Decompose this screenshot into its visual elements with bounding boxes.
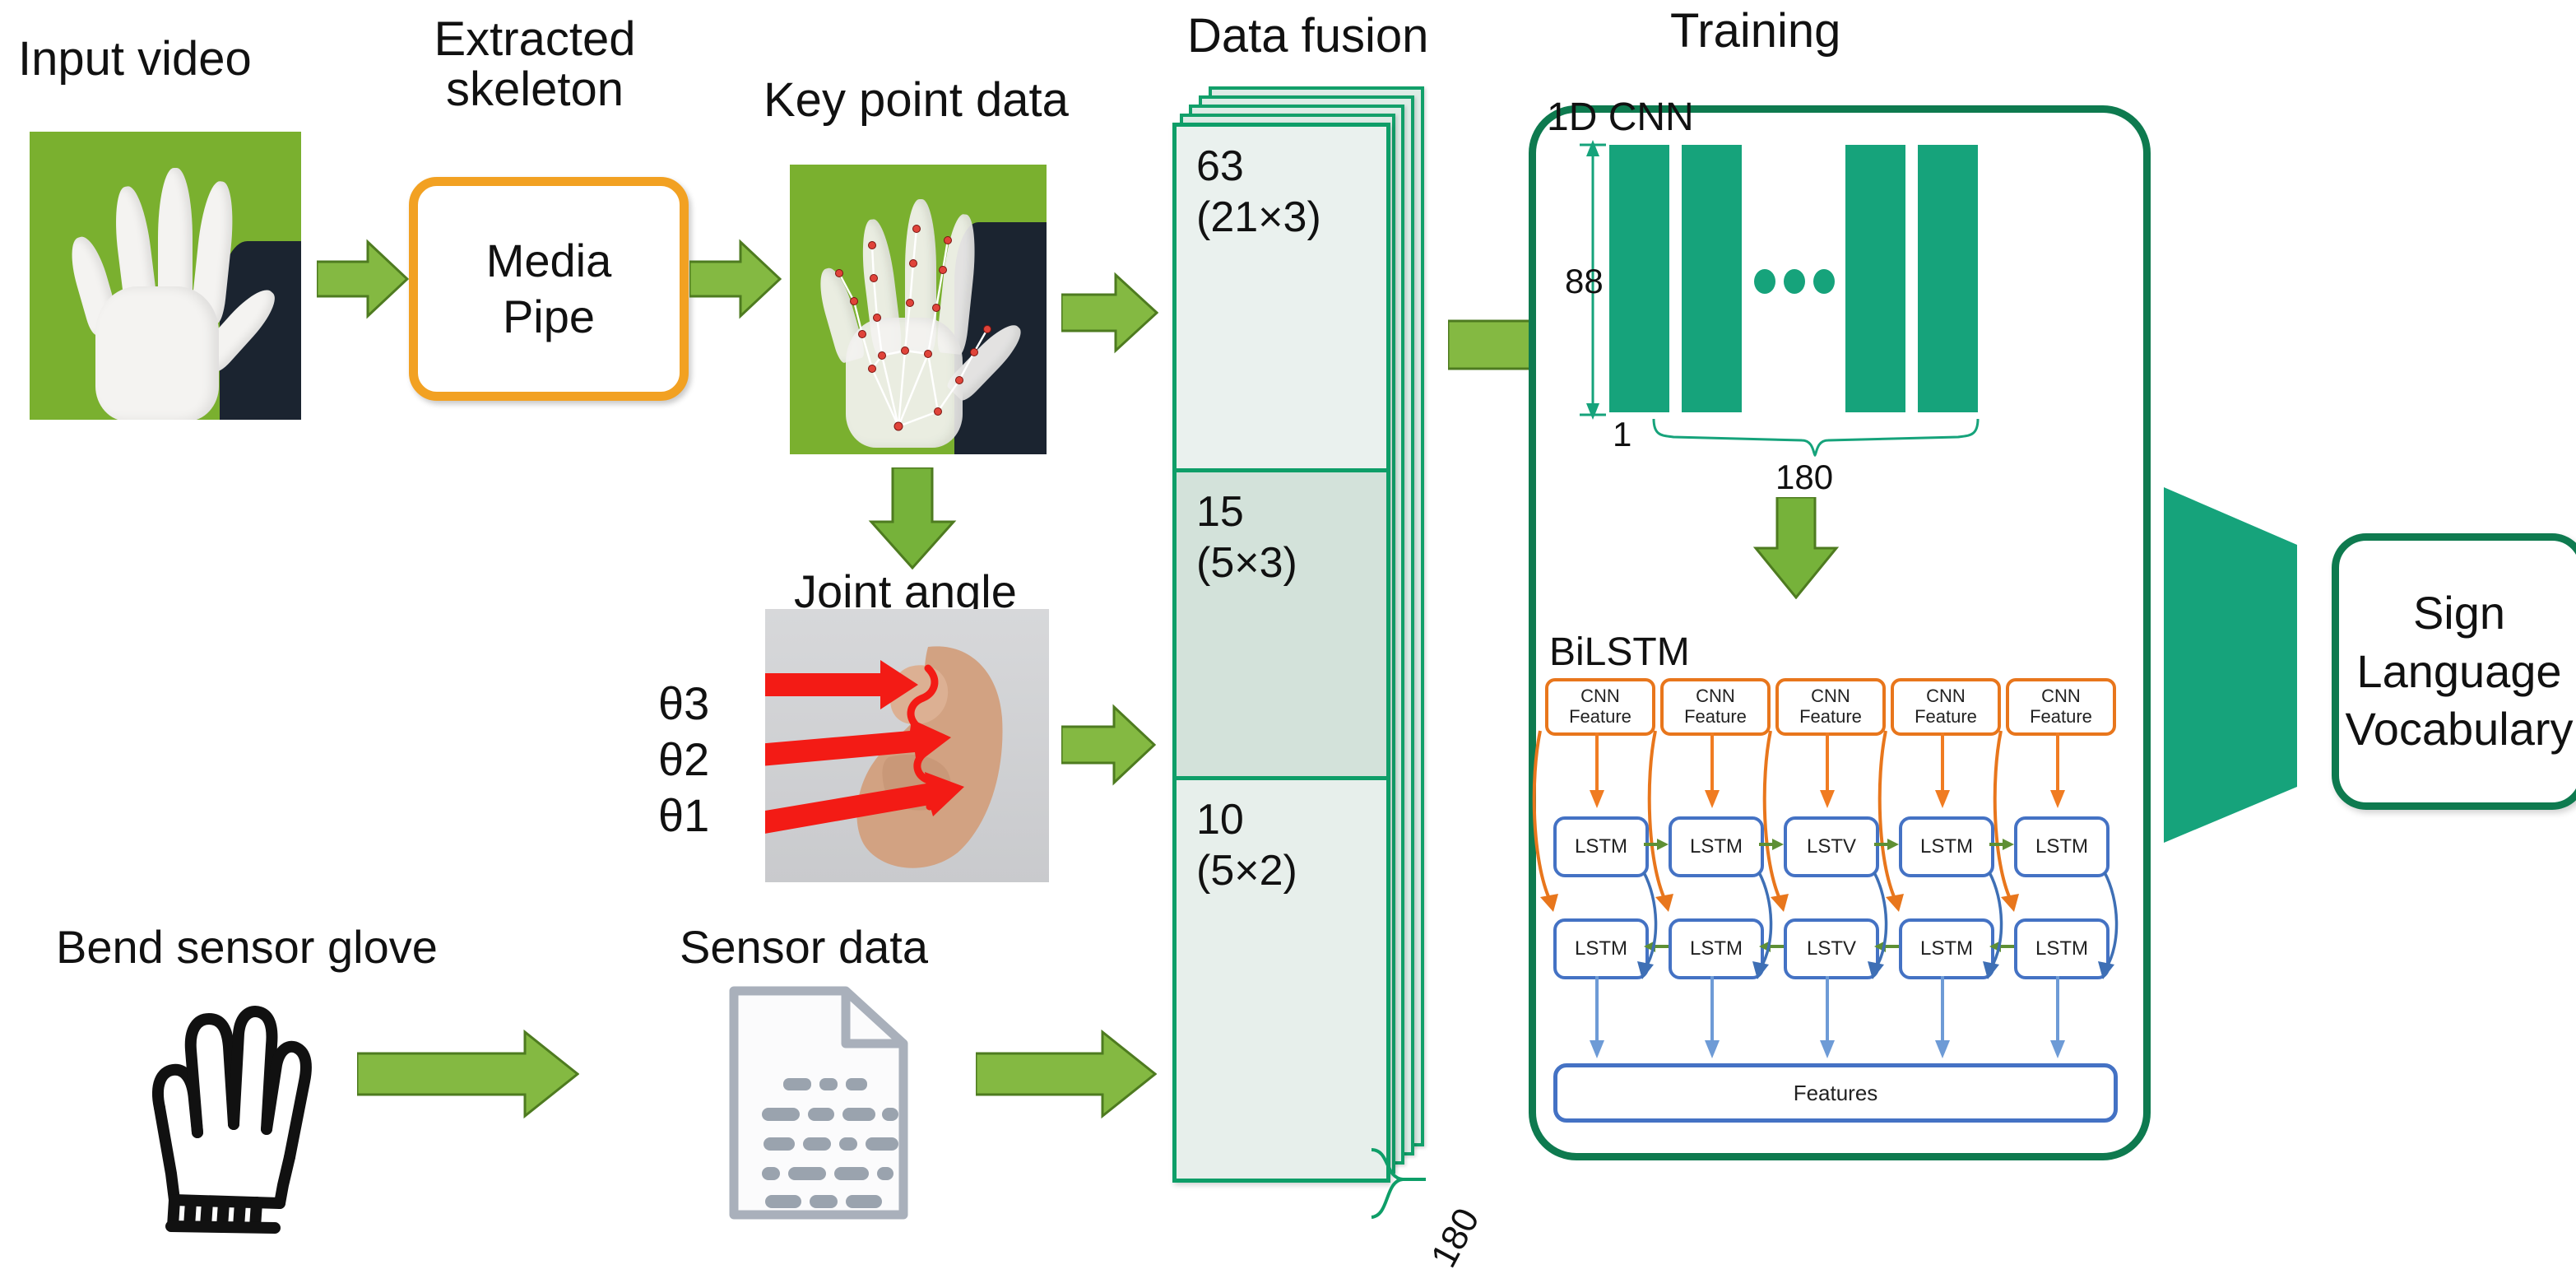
- output-trapezoid: [2161, 484, 2300, 846]
- input-video-label: Input video: [18, 35, 252, 85]
- fusion-sheet-front[interactable]: 63 (21×3) 15 (5×3) 10 (5×2): [1172, 123, 1390, 1183]
- cnn-feature-3-line2: Feature: [1799, 707, 1862, 728]
- cnn-feature-5-line2: Feature: [2030, 707, 2092, 728]
- fusion-segment-2-detail: (5×2): [1196, 846, 1297, 896]
- arrow-glove-to-sensordata: [357, 1029, 579, 1119]
- cnn-feature-box-1[interactable]: CNN Feature: [1545, 678, 1655, 736]
- cnn-bar-1: [1609, 145, 1669, 412]
- theta3-label: θ3: [658, 677, 709, 730]
- output-line2: Language: [2356, 643, 2561, 701]
- cnn-feature-2-line2: Feature: [1684, 707, 1747, 728]
- mediapipe-box[interactable]: Media Pipe: [409, 177, 689, 401]
- glove-icon: [122, 979, 327, 1234]
- cnn-feature-box-4[interactable]: CNN Feature: [1891, 678, 2001, 736]
- cnn-ellipsis-dot-2: [1784, 269, 1805, 294]
- arrow-mediapipe-to-keypoint: [689, 239, 782, 319]
- mediapipe-line1: Media: [486, 233, 612, 289]
- joint-angle-thumbnail: [765, 609, 1049, 882]
- cnn-height-label: 88: [1565, 262, 1604, 301]
- cnn-bar-4: [1918, 145, 1978, 412]
- output-line1: Sign: [2413, 584, 2505, 643]
- arrow-keypoint-to-fusion: [1061, 272, 1158, 354]
- arrow-keypoint-to-jointangle: [868, 467, 957, 570]
- bend-sensor-glove-label: Bend sensor glove: [56, 923, 438, 972]
- arrow-jointangle-to-fusion: [1061, 704, 1156, 786]
- document-icon: [724, 979, 913, 1226]
- cnn-feature-4-line1: CNN: [1926, 686, 1966, 707]
- output-line3: Vocabulary: [2345, 700, 2573, 759]
- cnn-bar-2: [1682, 145, 1742, 412]
- cnn-count-label: 180: [1775, 458, 1833, 497]
- sensor-data-label: Sensor data: [680, 923, 928, 972]
- fusion-segment-0-detail: (21×3): [1196, 193, 1321, 243]
- arrow-sensordata-to-fusion: [976, 1029, 1157, 1119]
- fusion-segment-2-count: 10: [1196, 795, 1244, 845]
- fusion-segment-1-count: 15: [1196, 487, 1244, 537]
- cnn-width-label: 1: [1613, 415, 1631, 454]
- cnn-feature-4-line2: Feature: [1915, 707, 1977, 728]
- fusion-segment-0-count: 63: [1196, 142, 1244, 192]
- cnn-feature-1-line2: Feature: [1569, 707, 1631, 728]
- input-video-thumbnail: [30, 132, 301, 420]
- features-bar[interactable]: Features: [1553, 1063, 2118, 1123]
- cnn-feature-box-2[interactable]: CNN Feature: [1660, 678, 1771, 736]
- training-label: Training: [1670, 7, 1840, 57]
- cnn-bar-3: [1845, 145, 1905, 412]
- cnn-title: 1D CNN: [1547, 97, 1694, 138]
- lstm-forward-links: [1553, 833, 2129, 858]
- cnn-feature-1-line1: CNN: [1580, 686, 1620, 707]
- cnn-feature-3-line1: CNN: [1811, 686, 1850, 707]
- cnn-feature-box-3[interactable]: CNN Feature: [1775, 678, 1886, 736]
- key-point-data-thumbnail: [790, 165, 1047, 454]
- key-point-data-label: Key point data: [764, 76, 1069, 126]
- extracted-skeleton-label: Extracted skeleton: [428, 15, 642, 115]
- cnn-feature-5-line1: CNN: [2041, 686, 2081, 707]
- bilstm-title: BiLSTM: [1549, 632, 1690, 673]
- sign-language-vocabulary-box[interactable]: Sign Language Vocabulary: [2332, 533, 2576, 810]
- cnn-feature-box-5[interactable]: CNN Feature: [2006, 678, 2116, 736]
- theta1-label: θ1: [658, 788, 709, 842]
- mediapipe-line2: Pipe: [503, 289, 595, 345]
- cnn-feature-2-line1: CNN: [1696, 686, 1735, 707]
- cnn-ellipsis-dot-1: [1754, 269, 1775, 294]
- arrow-video-to-mediapipe: [317, 239, 409, 319]
- arrow-cnn-to-bilstm: [1752, 497, 1840, 599]
- theta2-label: θ2: [658, 732, 709, 786]
- data-fusion-label: Data fusion: [1187, 12, 1428, 62]
- cnn-ellipsis-dot-3: [1813, 269, 1835, 294]
- cnn-count-brace: [1652, 416, 1981, 457]
- data-fusion-stack: 63 (21×3) 15 (5×3) 10 (5×2) 180: [1172, 86, 1436, 1169]
- fusion-segment-1-detail: (5×3): [1196, 538, 1297, 588]
